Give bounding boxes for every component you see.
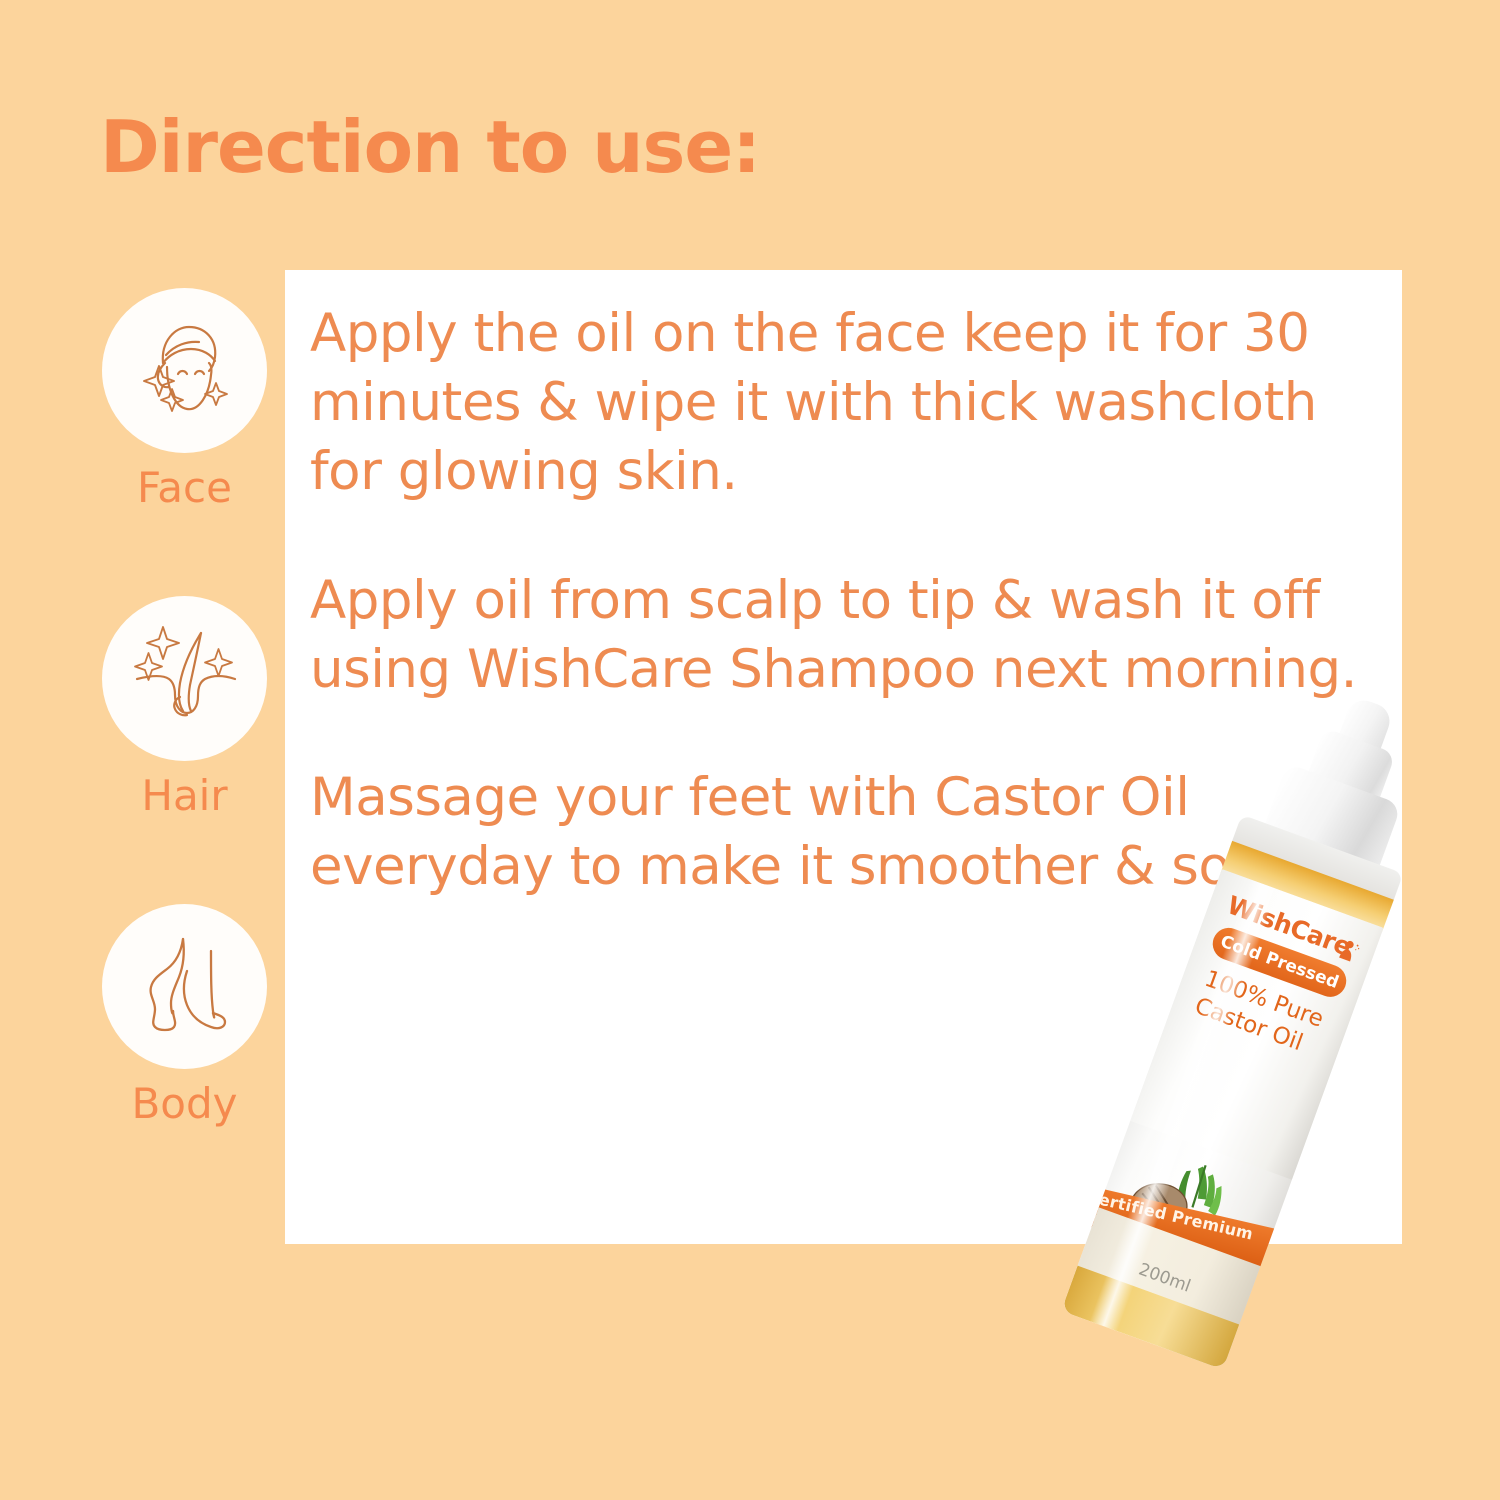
usage-area-hair: Hair (92, 596, 277, 820)
legs-feet-icon (125, 927, 245, 1047)
usage-area-label-body: Body (92, 1079, 277, 1128)
bottle-label-upper: WishCare Cold Pressed 100% PureCastor Oi… (1130, 869, 1383, 1180)
usage-area-label-hair: Hair (92, 771, 277, 820)
usage-area-face: Face (92, 288, 277, 512)
bottle-body: WishCare Cold Pressed 100% PureCastor Oi… (1061, 869, 1383, 1369)
step-text-face: Apply the oil on the face keep it for 30… (310, 300, 1370, 507)
bottle-graphic: WishCare Cold Pressed 100% PureCastor Oi… (1022, 753, 1443, 1428)
face-towel-sparkle-icon (125, 311, 245, 431)
body-icon-circle (102, 904, 267, 1069)
hair-follicle-sparkle-icon (125, 619, 245, 739)
page-title: Direction to use: (100, 105, 760, 189)
face-icon-circle (102, 288, 267, 453)
usage-area-label-face: Face (92, 463, 277, 512)
usage-area-rail: Face Hair (92, 288, 277, 1128)
step-text-hair: Apply oil from scalp to tip & wash it of… (310, 567, 1370, 705)
hair-icon-circle (102, 596, 267, 761)
product-bottle: WishCare Cold Pressed 100% PureCastor Oi… (1030, 730, 1500, 1470)
usage-area-body: Body (92, 904, 277, 1128)
